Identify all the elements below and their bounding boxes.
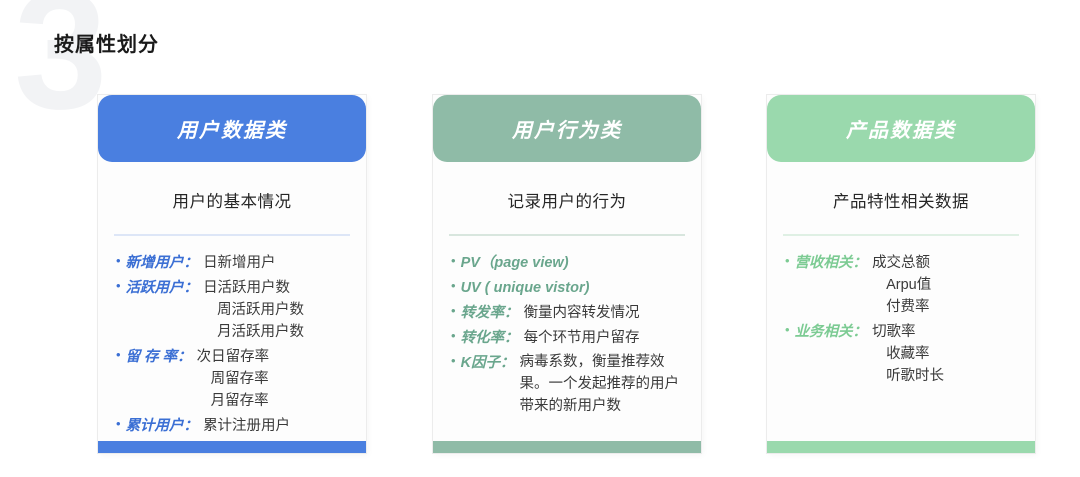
card-divider — [449, 234, 685, 236]
metric-values: 切歌率 收藏率 听歌时长 — [872, 321, 1019, 387]
list-item[interactable]: • 转化率： 每个环节用户留存 — [451, 327, 685, 349]
metric-term: 活跃用户： — [126, 277, 204, 299]
metric-value: 成交总额 — [872, 252, 1019, 274]
metric-value: Arpu值 — [872, 274, 1019, 296]
metric-value: 收藏率 — [872, 343, 1019, 365]
page-title: 按属性划分 — [54, 28, 159, 57]
list-item[interactable]: • UV ( unique vistor) — [451, 277, 685, 299]
list-item[interactable]: • 业务相关： 切歌率 收藏率 听歌时长 — [785, 321, 1019, 387]
category-cards-container: 用户数据类 用户的基本情况 • 新增用户： 日新增用户 • 活跃用户： — [0, 95, 1080, 453]
bullet-icon: • — [116, 346, 121, 365]
list-item[interactable]: • 活跃用户： 日活跃用户数 周活跃用户数 月活跃用户数 — [116, 277, 350, 343]
metric-values: 病毒系数，衡量推荐效果。一个发起推荐的用户带来的新用户数 — [520, 352, 685, 417]
metric-list-user-behavior: • PV（page view) • UV ( unique vistor) • … — [449, 252, 685, 441]
bullet-icon: • — [116, 277, 121, 296]
card-header-title: 用户行为类 — [512, 114, 622, 143]
metric-term: K因子： — [461, 352, 520, 374]
metric-value: 日活跃用户数 — [203, 277, 350, 299]
metric-term: 转化率： — [461, 327, 524, 349]
bullet-icon: • — [451, 252, 456, 271]
card-header-title: 用户数据类 — [177, 114, 287, 143]
metric-values: 次日留存率 周留存率 月留存率 — [197, 346, 350, 412]
metric-term: 新增用户： — [126, 252, 204, 274]
metric-value: 月活跃用户数 — [203, 321, 350, 343]
bullet-icon: • — [451, 302, 456, 321]
card-body-user-behavior: 记录用户的行为 • PV（page view) • UV ( unique vi… — [433, 162, 701, 441]
card-subtitle: 记录用户的行为 — [449, 188, 685, 212]
bullet-icon: • — [451, 277, 456, 296]
metric-values: 每个环节用户留存 — [524, 327, 685, 349]
card-header-product-data: 产品数据类 — [767, 95, 1035, 162]
metric-value: 周活跃用户数 — [203, 299, 350, 321]
card-subtitle: 产品特性相关数据 — [783, 188, 1019, 212]
card-footer-bar — [767, 441, 1035, 453]
list-item[interactable]: • 转发率： 衡量内容转发情况 — [451, 302, 685, 324]
metric-value: 衡量内容转发情况 — [524, 302, 685, 324]
bullet-icon: • — [116, 415, 121, 434]
metric-term: 营收相关： — [795, 252, 873, 274]
card-header-user-data: 用户数据类 — [98, 95, 366, 162]
card-body-user-data: 用户的基本情况 • 新增用户： 日新增用户 • 活跃用户： 日活跃用户数 — [98, 162, 366, 441]
metric-value: 切歌率 — [872, 321, 1019, 343]
card-user-behavior[interactable]: 用户行为类 记录用户的行为 • PV（page view) • UV ( uni… — [433, 95, 701, 453]
card-header-title: 产品数据类 — [846, 114, 956, 143]
metric-values: 衡量内容转发情况 — [524, 302, 685, 324]
metric-value: 周留存率 — [197, 368, 350, 390]
metric-list-product-data: • 营收相关： 成交总额 Arpu值 付费率 • 业务相关： — [783, 252, 1019, 441]
bullet-icon: • — [451, 327, 456, 346]
metric-term: UV ( unique vistor) — [461, 277, 595, 299]
card-header-user-behavior: 用户行为类 — [433, 95, 701, 162]
metric-term: 累计用户： — [126, 415, 204, 437]
list-item[interactable]: • K因子： 病毒系数，衡量推荐效果。一个发起推荐的用户带来的新用户数 — [451, 352, 685, 417]
metric-values: 成交总额 Arpu值 付费率 — [872, 252, 1019, 318]
list-item[interactable]: • PV（page view) — [451, 252, 685, 274]
card-product-data[interactable]: 产品数据类 产品特性相关数据 • 营收相关： 成交总额 Arpu值 付费率 — [767, 95, 1035, 453]
metric-values: 累计注册用户 — [203, 415, 350, 437]
card-footer-bar — [98, 441, 366, 453]
card-user-data[interactable]: 用户数据类 用户的基本情况 • 新增用户： 日新增用户 • 活跃用户： — [98, 95, 366, 453]
metric-values: 日新增用户 — [203, 252, 350, 274]
bullet-icon: • — [785, 252, 790, 271]
bullet-icon: • — [116, 252, 121, 271]
metric-value: 每个环节用户留存 — [524, 327, 685, 349]
list-item[interactable]: • 营收相关： 成交总额 Arpu值 付费率 — [785, 252, 1019, 318]
metric-value: 次日留存率 — [197, 346, 350, 368]
card-footer-bar — [433, 441, 701, 453]
metric-term: 留 存 率： — [126, 346, 197, 368]
metric-value: 累计注册用户 — [203, 415, 350, 437]
metric-value: 日新增用户 — [203, 252, 350, 274]
list-item[interactable]: • 留 存 率： 次日留存率 周留存率 月留存率 — [116, 346, 350, 412]
bullet-icon: • — [451, 352, 456, 371]
metric-value: 听歌时长 — [872, 365, 1019, 387]
metric-list-user-data: • 新增用户： 日新增用户 • 活跃用户： 日活跃用户数 周活跃用户数 月活跃用… — [114, 252, 350, 441]
metric-value: 月留存率 — [197, 390, 350, 412]
card-divider — [114, 234, 350, 236]
card-body-product-data: 产品特性相关数据 • 营收相关： 成交总额 Arpu值 付费率 • — [767, 162, 1035, 441]
metric-value: 付费率 — [872, 296, 1019, 318]
card-divider — [783, 234, 1019, 236]
metric-term: 转发率： — [461, 302, 524, 324]
card-subtitle: 用户的基本情况 — [114, 188, 350, 212]
metric-term: PV（page view) — [461, 252, 574, 274]
bullet-icon: • — [785, 321, 790, 340]
metric-values: 日活跃用户数 周活跃用户数 月活跃用户数 — [203, 277, 350, 343]
list-item[interactable]: • 新增用户： 日新增用户 — [116, 252, 350, 274]
list-item[interactable]: • 累计用户： 累计注册用户 — [116, 415, 350, 437]
metric-term: 业务相关： — [795, 321, 873, 343]
